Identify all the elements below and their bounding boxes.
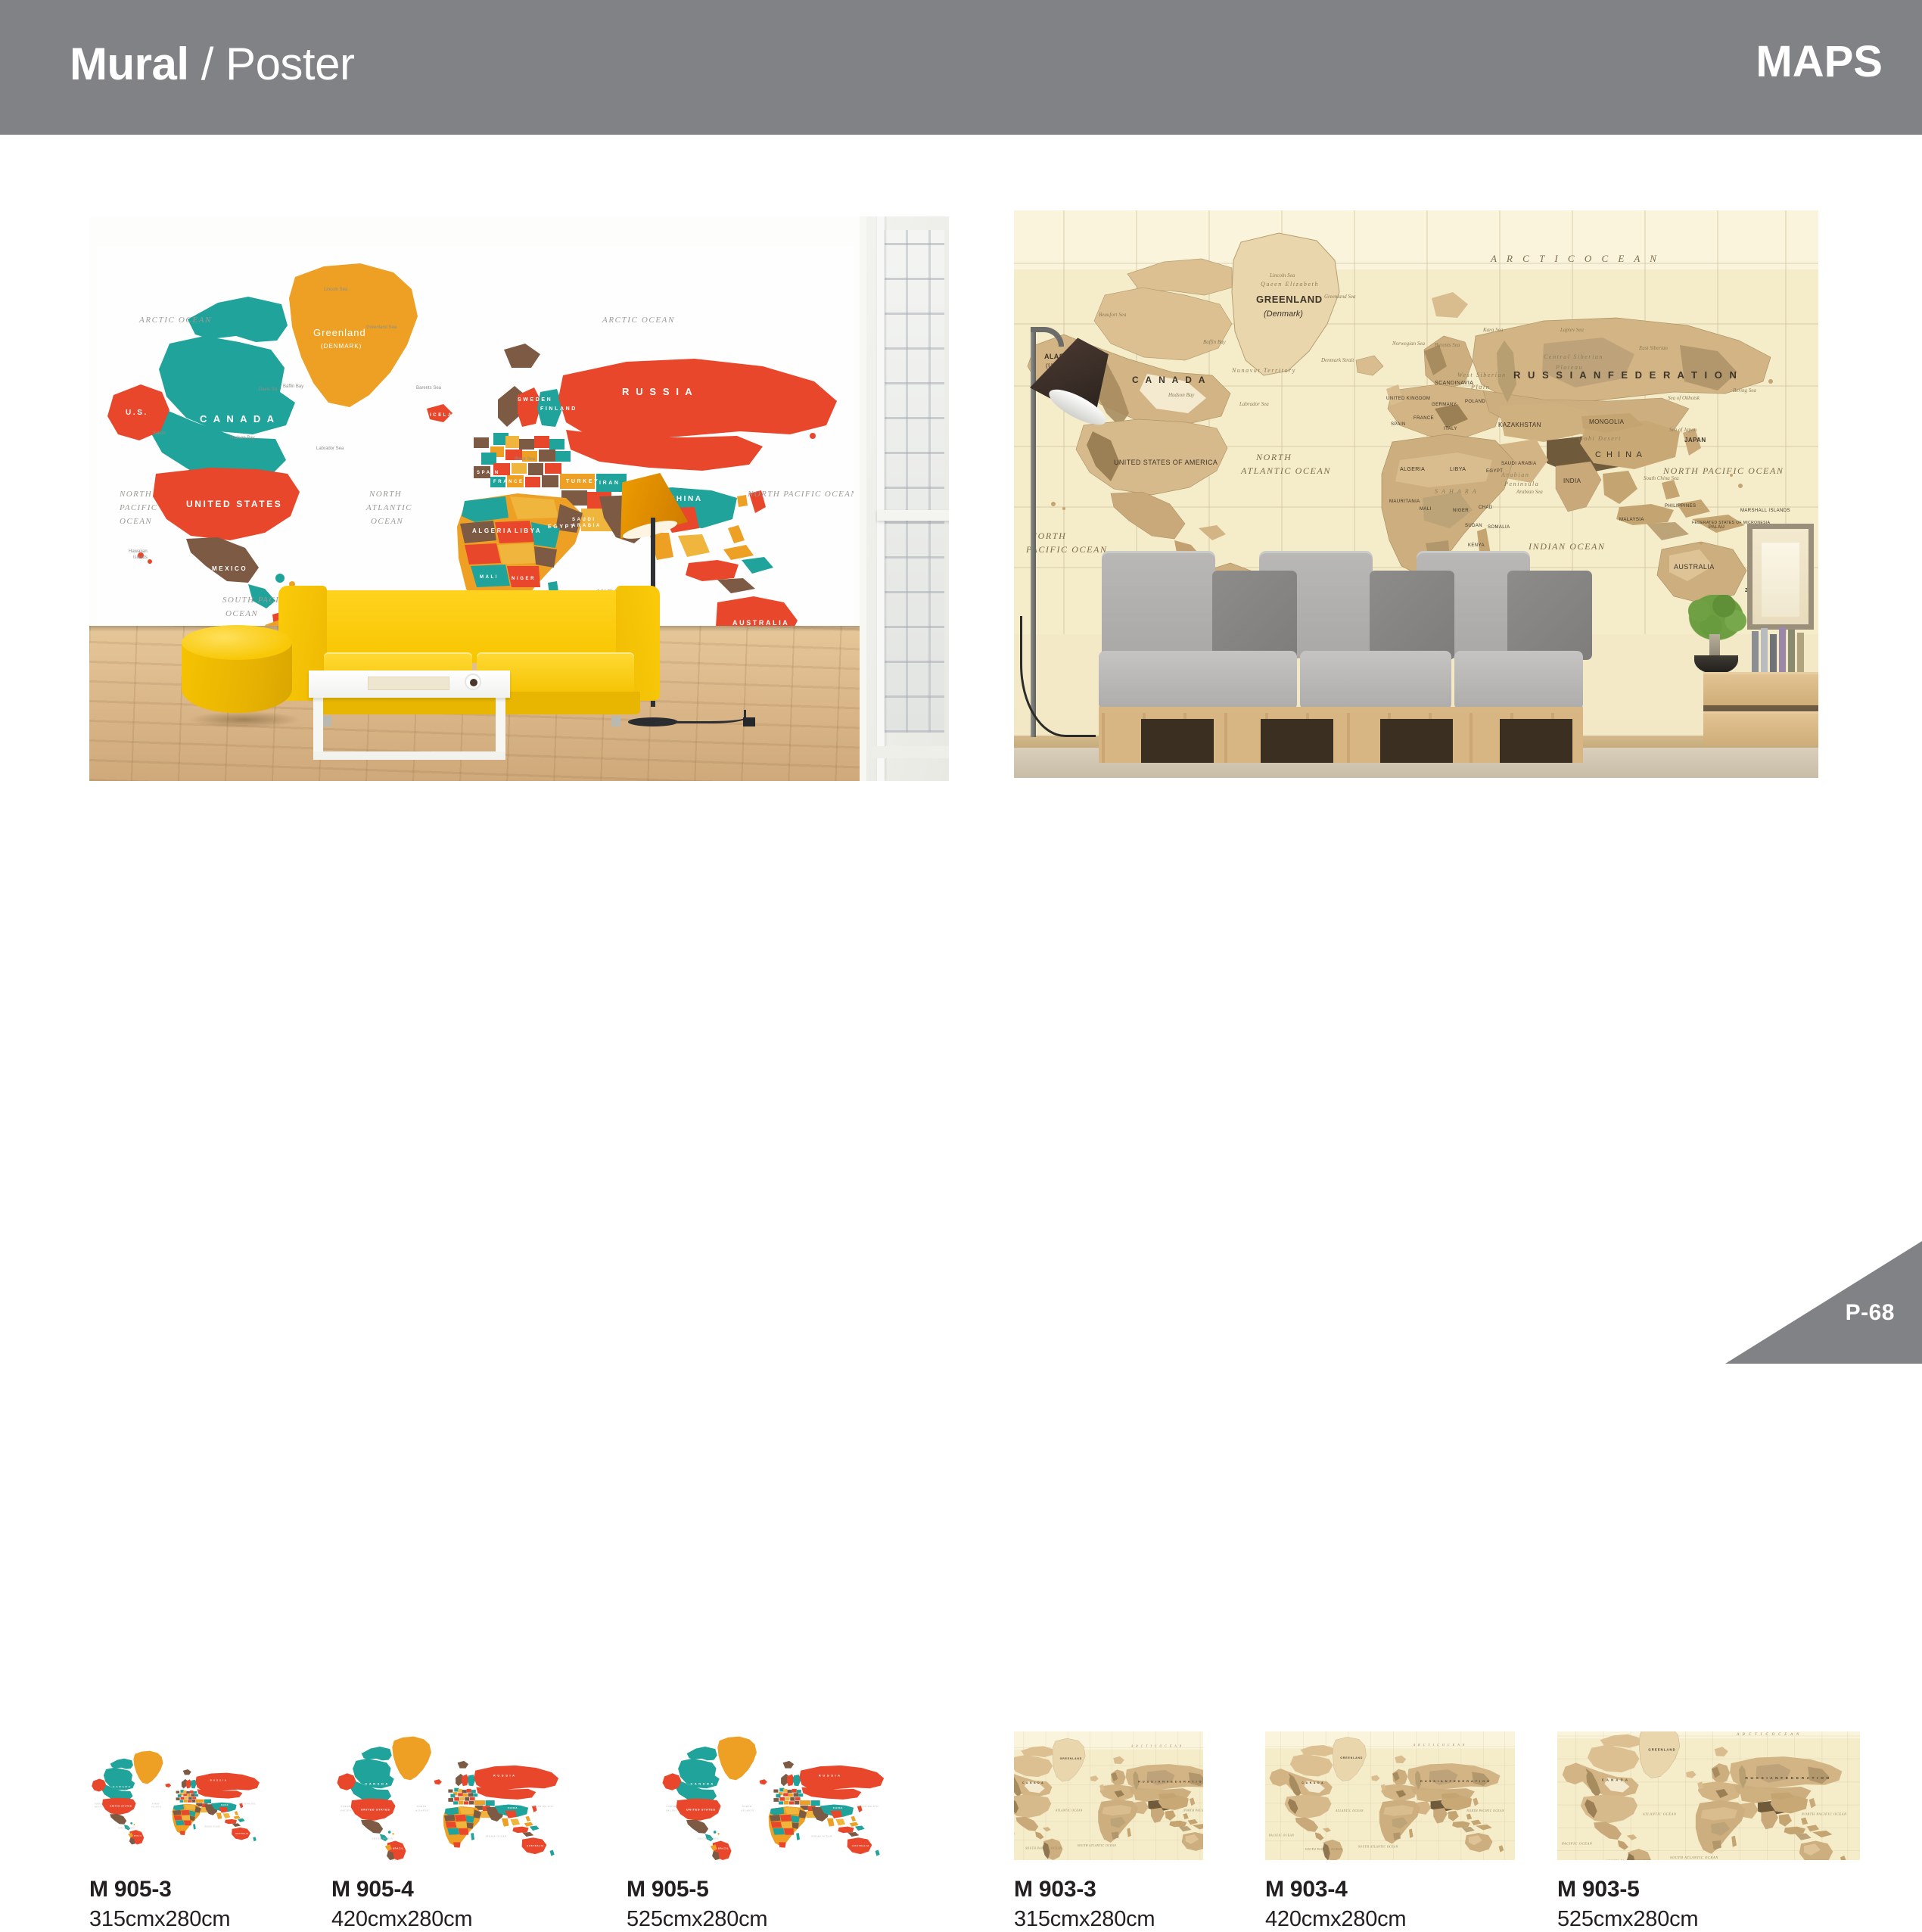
svg-text:FINLAND: FINLAND xyxy=(540,406,577,412)
white-coffee-table xyxy=(309,670,510,760)
svg-text:SOMALIA: SOMALIA xyxy=(1488,525,1510,530)
product-thumbnail-5[interactable] xyxy=(1557,1731,1860,1860)
svg-text:South China Sea: South China Sea xyxy=(1644,475,1679,481)
svg-text:Nunavut Territory: Nunavut Territory xyxy=(1231,367,1296,374)
pallet-sofa xyxy=(1099,551,1583,763)
sofa-seat-cushion xyxy=(1300,651,1451,710)
svg-text:MALI: MALI xyxy=(1420,507,1432,512)
svg-text:Greenland Sea: Greenland Sea xyxy=(1324,294,1356,300)
svg-text:KAZAKHSTAN: KAZAKHSTAN xyxy=(1498,422,1541,428)
svg-text:(DENMARK): (DENMARK) xyxy=(321,343,362,350)
svg-text:NORTH: NORTH xyxy=(119,490,152,499)
svg-text:Lincoln Sea: Lincoln Sea xyxy=(1269,272,1295,278)
svg-text:Sea of Okhotsk: Sea of Okhotsk xyxy=(1668,395,1700,401)
product-code-0: M 905-3 xyxy=(89,1877,263,1902)
svg-text:GERMANY: GERMANY xyxy=(1432,403,1457,407)
product-card-1[interactable]: M 905-4 420cmx280cm xyxy=(331,1731,566,1932)
hero-scene-colorful-map-room: ARCTIC OCEAN ARCTIC OCEAN NORTH PACIFIC … xyxy=(89,216,949,781)
svg-text:Yukon: Yukon xyxy=(153,431,166,436)
product-code-3: M 903-3 xyxy=(1014,1877,1203,1902)
framed-mirror xyxy=(1747,524,1814,630)
svg-text:SAUDI ARABIA: SAUDI ARABIA xyxy=(1501,462,1536,466)
thumbnail-map-colorful xyxy=(89,1731,263,1860)
plant-pot xyxy=(1694,655,1738,674)
svg-text:UNITED KINGDOM: UNITED KINGDOM xyxy=(1386,397,1430,401)
svg-text:ARABIA: ARABIA xyxy=(572,524,602,528)
svg-text:Greenland: Greenland xyxy=(313,327,366,338)
svg-text:SAUDI: SAUDI xyxy=(572,518,596,522)
product-card-3[interactable]: M 903-3 315cmx280cm xyxy=(1014,1731,1203,1932)
book xyxy=(1770,634,1777,672)
svg-text:Lincoln Sea: Lincoln Sea xyxy=(324,288,348,292)
thumbnail-map-sepia xyxy=(1557,1731,1860,1860)
hero-scene-sepia-map-room: A R C T I C O C E A N NORTH ATLANTIC OCE… xyxy=(1014,210,1818,778)
svg-text:U.S.: U.S. xyxy=(126,409,148,417)
coffee-cup xyxy=(465,674,481,690)
product-code-4: M 903-4 xyxy=(1265,1877,1515,1902)
product-thumbnail-2[interactable] xyxy=(627,1731,922,1860)
book xyxy=(1752,631,1759,672)
window-mullion-vertical xyxy=(877,216,885,781)
svg-text:Greenland Sea: Greenland Sea xyxy=(366,325,397,330)
window xyxy=(860,216,949,781)
product-thumbnail-1[interactable] xyxy=(331,1731,566,1860)
svg-text:ALGERIA: ALGERIA xyxy=(472,527,513,534)
table-tray xyxy=(368,677,449,690)
product-card-5[interactable]: M 903-5 525cmx280cm xyxy=(1557,1731,1860,1932)
table-leg xyxy=(496,695,505,758)
svg-text:ARCTIC OCEAN: ARCTIC OCEAN xyxy=(602,316,675,325)
svg-text:SPAIN: SPAIN xyxy=(1391,422,1406,427)
svg-text:Barents Sea: Barents Sea xyxy=(1435,342,1460,348)
svg-text:Davis Str.: Davis Str. xyxy=(259,387,278,392)
sofa-leg xyxy=(611,716,620,726)
pallet-side-table xyxy=(1703,672,1818,763)
category-label: MAPS xyxy=(1756,36,1883,87)
svg-text:LIBYA: LIBYA xyxy=(515,527,542,534)
svg-text:East Siberian: East Siberian xyxy=(1638,345,1668,351)
svg-text:TURKEY: TURKEY xyxy=(566,479,599,484)
svg-text:Central Siberian: Central Siberian xyxy=(1544,353,1603,360)
svg-text:NORTH PACIFIC OCEAN: NORTH PACIFIC OCEAN xyxy=(747,490,854,499)
svg-text:Plateau: Plateau xyxy=(1555,364,1583,371)
svg-text:EGYPT: EGYPT xyxy=(1486,469,1503,474)
book-stack xyxy=(1752,625,1809,672)
page-header: Mural / Poster MAPS xyxy=(0,0,1922,135)
svg-text:Peninsula: Peninsula xyxy=(1504,481,1539,487)
svg-text:NIGER: NIGER xyxy=(1453,509,1469,513)
svg-text:ALGERIA: ALGERIA xyxy=(1400,467,1425,472)
svg-text:INDIAN OCEAN: INDIAN OCEAN xyxy=(1528,541,1606,552)
table-leg xyxy=(313,695,323,758)
pallet-opening xyxy=(1500,719,1572,763)
product-thumbnail-0[interactable] xyxy=(89,1731,263,1860)
svg-text:MEXICO: MEXICO xyxy=(212,565,247,572)
svg-text:POLAND: POLAND xyxy=(1465,400,1485,404)
window-mullion-horizontal xyxy=(877,510,949,521)
svg-text:MALAYSIA: MALAYSIA xyxy=(1619,518,1644,522)
svg-text:ATLANTIC OCEAN: ATLANTIC OCEAN xyxy=(1240,465,1331,476)
book xyxy=(1779,627,1786,672)
throw-pillow xyxy=(1507,571,1592,660)
svg-text:Laptev Sea: Laptev Sea xyxy=(1560,327,1584,333)
svg-text:INDIA: INDIA xyxy=(1563,478,1581,484)
svg-text:C H I N A: C H I N A xyxy=(1595,450,1644,459)
svg-text:OCEAN: OCEAN xyxy=(120,517,152,526)
lamp-plug xyxy=(743,717,755,726)
svg-text:SWEDEN: SWEDEN xyxy=(518,397,552,403)
svg-text:OCEAN: OCEAN xyxy=(371,517,403,526)
svg-text:PHILIPPINES: PHILIPPINES xyxy=(1665,504,1696,509)
sofa-seat-cushion xyxy=(1099,651,1297,710)
svg-text:Labrador Sea: Labrador Sea xyxy=(1239,401,1269,407)
svg-text:Norwegian Sea: Norwegian Sea xyxy=(1392,341,1425,347)
pallet-gap xyxy=(1703,705,1818,711)
svg-text:UNITED STATES OF AMERICA: UNITED STATES OF AMERICA xyxy=(1114,459,1218,466)
svg-text:SUDAN: SUDAN xyxy=(1465,524,1482,528)
svg-text:Barents Sea: Barents Sea xyxy=(416,386,442,390)
pallet-board xyxy=(1703,711,1818,745)
svg-text:Baffin Bay: Baffin Bay xyxy=(283,384,303,389)
sofa-seat-cushion xyxy=(1454,651,1583,710)
page-number: P-68 xyxy=(1846,1300,1895,1326)
svg-text:Plain: Plain xyxy=(1470,384,1490,390)
svg-text:C A N A D A: C A N A D A xyxy=(1132,375,1207,385)
lamp-arm xyxy=(1031,327,1064,347)
table-top xyxy=(309,670,510,698)
svg-text:MARSHALL ISLANDS: MARSHALL ISLANDS xyxy=(1740,509,1790,513)
window-sill xyxy=(871,746,949,758)
window-glass-city-view xyxy=(883,230,944,733)
svg-text:Hudson Bay: Hudson Bay xyxy=(1168,392,1195,398)
svg-text:PALAU: PALAU xyxy=(1709,525,1725,530)
svg-text:Hawaiian: Hawaiian xyxy=(129,549,148,554)
product-dimensions-0: 315cmx280cm xyxy=(89,1907,263,1932)
svg-text:Denmark Strait: Denmark Strait xyxy=(1320,357,1354,363)
thumbnail-map-colorful xyxy=(331,1731,566,1860)
svg-text:Islands: Islands xyxy=(133,555,148,560)
industrial-floor-lamp xyxy=(1019,283,1109,737)
svg-text:GREENLAND: GREENLAND xyxy=(1256,294,1323,305)
svg-text:NORTH PACIFIC OCEAN: NORTH PACIFIC OCEAN xyxy=(1662,465,1784,476)
product-thumbnail-3[interactable] xyxy=(1014,1731,1203,1860)
sofa-back-cushion xyxy=(1102,551,1215,658)
ottoman-shadow xyxy=(188,711,301,728)
ottoman-top xyxy=(182,625,292,660)
product-card-4[interactable]: M 903-4 420cmx280cm xyxy=(1265,1731,1515,1932)
svg-text:FRANCE: FRANCE xyxy=(493,480,524,484)
product-dimensions-5: 525cmx280cm xyxy=(1557,1907,1860,1932)
book xyxy=(1797,633,1804,672)
svg-text:R U S S I A N F E D E R A T: R U S S I A N F E D E R A T I O N xyxy=(1513,369,1739,381)
svg-text:West Siberian: West Siberian xyxy=(1457,372,1507,378)
product-code-5: M 903-5 xyxy=(1557,1877,1860,1902)
thumbnail-map-sepia xyxy=(1014,1731,1203,1860)
product-dimensions-4: 420cmx280cm xyxy=(1265,1907,1515,1932)
throw-pillow xyxy=(1212,571,1297,660)
svg-text:SCANDINAVIA: SCANDINAVIA xyxy=(1435,381,1473,386)
svg-text:ITALY: ITALY xyxy=(1444,427,1457,431)
svg-text:UNITED STATES: UNITED STATES xyxy=(186,499,282,509)
svg-text:CHAD: CHAD xyxy=(1479,506,1493,510)
pallet-board xyxy=(1703,672,1818,705)
book xyxy=(1788,630,1795,672)
product-dimensions-2: 525cmx280cm xyxy=(627,1907,922,1932)
svg-text:IRAN: IRAN xyxy=(599,481,620,486)
table-lower-shelf xyxy=(313,751,505,760)
pallet-opening xyxy=(1261,719,1333,763)
svg-text:Bering Sea: Bering Sea xyxy=(1733,387,1756,394)
svg-text:Arabian Sea: Arabian Sea xyxy=(1516,489,1543,495)
svg-text:C A N A D A: C A N A D A xyxy=(200,413,276,425)
svg-text:ATLANTIC: ATLANTIC xyxy=(365,503,412,512)
svg-text:NORTH: NORTH xyxy=(1255,452,1292,462)
book xyxy=(1761,628,1768,672)
svg-text:MONGOLIA: MONGOLIA xyxy=(1589,418,1625,425)
product-variant-row: M 905-3 315cmx280cm M 905-4 420cmx280cm … xyxy=(0,863,1922,1226)
svg-text:R U S S I A: R U S S I A xyxy=(622,386,694,397)
svg-text:Arabian: Arabian xyxy=(1501,471,1529,478)
svg-text:A R C T I C O C E: A R C T I C O C E A N xyxy=(1490,253,1660,264)
product-code-2: M 905-5 xyxy=(627,1877,922,1902)
page-title: Mural / Poster xyxy=(70,38,354,90)
pallet-opening xyxy=(1380,719,1453,763)
product-code-1: M 905-4 xyxy=(331,1877,566,1902)
svg-text:Hudson Bay: Hudson Bay xyxy=(230,436,255,440)
page-title-light: / Poster xyxy=(201,39,355,89)
svg-text:OCEAN: OCEAN xyxy=(225,609,258,618)
throw-pillow xyxy=(1370,571,1454,660)
thumbnail-map-sepia xyxy=(1265,1731,1515,1860)
svg-text:Sea of Japan: Sea of Japan xyxy=(1669,427,1697,433)
svg-text:ARCTIC OCEAN: ARCTIC OCEAN xyxy=(138,316,212,325)
svg-text:SPAIN: SPAIN xyxy=(477,471,500,475)
svg-text:Baffin Bay: Baffin Bay xyxy=(1203,339,1227,345)
svg-text:JAPAN: JAPAN xyxy=(1684,437,1706,443)
svg-text:Black Sea: Black Sea xyxy=(515,457,536,462)
svg-text:FRANCE: FRANCE xyxy=(1414,416,1434,421)
svg-text:NIGER: NIGER xyxy=(512,577,536,581)
svg-text:NORTH: NORTH xyxy=(369,490,402,499)
svg-text:MALI: MALI xyxy=(480,575,499,580)
thumbnail-map-colorful xyxy=(627,1731,922,1860)
product-card-2[interactable]: M 905-5 525cmx280cm xyxy=(627,1731,922,1932)
svg-text:PACIFIC: PACIFIC xyxy=(119,503,158,512)
svg-text:S A H A R A: S A H A R A xyxy=(1435,488,1477,495)
svg-text:MAURITANIA: MAURITANIA xyxy=(1389,499,1420,504)
svg-text:Labrador Sea: Labrador Sea xyxy=(316,446,344,451)
page-footer-corner: P-68 xyxy=(1725,1241,1922,1364)
product-card-0[interactable]: M 905-3 315cmx280cm xyxy=(89,1731,263,1932)
svg-text:(Denmark): (Denmark) xyxy=(1264,310,1303,319)
bonsai-plant xyxy=(1684,595,1749,674)
svg-text:Kara Sea: Kara Sea xyxy=(1482,327,1504,333)
pallet-opening xyxy=(1141,719,1214,763)
page-title-bold: Mural xyxy=(70,39,189,89)
product-dimensions-1: 420cmx280cm xyxy=(331,1907,566,1932)
svg-text:LIBYA: LIBYA xyxy=(1450,467,1466,472)
svg-text:Queen Elizabeth: Queen Elizabeth xyxy=(1261,281,1319,288)
lamp-cord xyxy=(655,710,746,723)
product-thumbnail-4[interactable] xyxy=(1265,1731,1515,1860)
svg-text:KENYA: KENYA xyxy=(1468,543,1485,548)
yellow-ottoman xyxy=(182,625,292,722)
svg-text:ICELAND: ICELAND xyxy=(430,413,464,418)
product-dimensions-3: 315cmx280cm xyxy=(1014,1907,1203,1932)
svg-text:AUSTRALIA: AUSTRALIA xyxy=(1674,563,1715,571)
svg-text:Gobi Desert: Gobi Desert xyxy=(1578,435,1622,442)
